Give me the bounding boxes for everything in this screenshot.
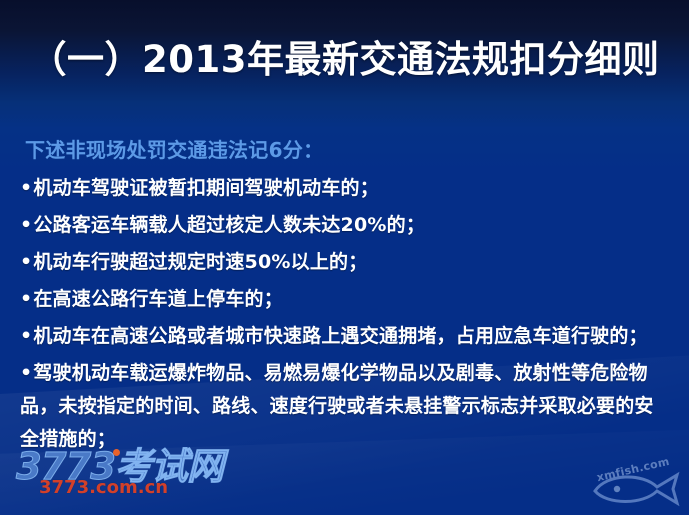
- watermark-xmfish: xmfish.com: [587, 459, 683, 511]
- list-item-text: 机动车驾驶证被暂扣期间驾驶机动车的；: [33, 177, 379, 199]
- list-item: •在高速公路行车道上停车的；: [20, 283, 670, 316]
- slide-canvas: （一）2013年最新交通法规扣分细则 下述非现场处罚交通违法记6分： •机动车驾…: [0, 0, 689, 515]
- list-item-text: 驾驶机动车载运爆炸物品、易燃易爆化学物品以及剧毒、放射性等危险物品，未按指定的时…: [20, 362, 654, 450]
- list-item: •公路客运车辆载人超过核定人数未达20%的；: [20, 209, 670, 242]
- bullet-marker-icon: •: [20, 283, 32, 316]
- list-item: •机动车行驶超过规定时速50%以上的；: [20, 246, 670, 279]
- bullet-marker-icon: •: [20, 246, 32, 279]
- list-item-text: 在高速公路行车道上停车的；: [33, 288, 283, 310]
- bullet-marker-icon: •: [20, 209, 32, 242]
- list-item-text: 机动车行驶超过规定时速50%以上的；: [33, 251, 367, 273]
- fish-icon: [587, 459, 683, 511]
- bullet-marker-icon: •: [20, 320, 32, 353]
- bullet-marker-icon: •: [20, 172, 32, 205]
- bullet-list: •机动车驾驶证被暂扣期间驾驶机动车的； •公路客运车辆载人超过核定人数未达20%…: [20, 172, 670, 460]
- bullet-marker-icon: •: [20, 357, 32, 390]
- slide-subtitle: 下述非现场处罚交通违法记6分：: [25, 134, 323, 163]
- watermark-logo-url: 3773.com.cn: [39, 478, 168, 498]
- list-item: •机动车在高速公路或者城市快速路上遇交通拥堵，占用应急车道行驶的；: [20, 320, 670, 353]
- list-item-text: 机动车在高速公路或者城市快速路上遇交通拥堵，占用应急车道行驶的；: [33, 325, 647, 347]
- list-item: •驾驶机动车载运爆炸物品、易燃易爆化学物品以及剧毒、放射性等危险物品，未按指定的…: [20, 357, 670, 456]
- list-item: •机动车驾驶证被暂扣期间驾驶机动车的；: [20, 172, 670, 205]
- list-item-text: 公路客运车辆载人超过核定人数未达20%的；: [33, 214, 425, 236]
- slide-title: （一）2013年最新交通法规扣分细则: [0, 38, 689, 82]
